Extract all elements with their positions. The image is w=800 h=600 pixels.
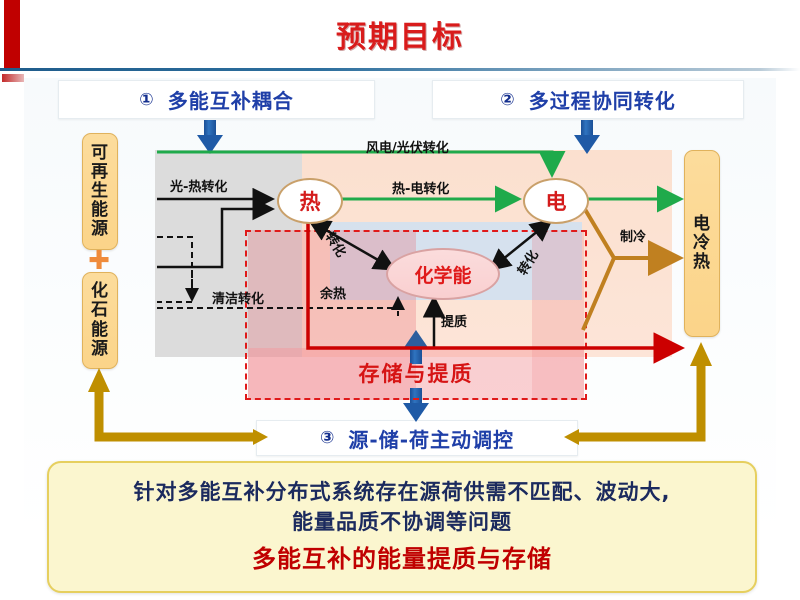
node-chemical-energy[interactable]: 化学能 bbox=[386, 248, 500, 300]
output-box-electricity-cooling-heat[interactable]: 电冷热 bbox=[684, 150, 720, 337]
step-banner-3[interactable]: ③ 源-储-荷主动调控 bbox=[256, 420, 578, 456]
flow-label-wind-pv: 风电/光伏转化 bbox=[366, 137, 449, 156]
step-2-number: ② bbox=[500, 90, 514, 110]
conclusion-line-2: 能量品质不协调等问题 bbox=[292, 510, 512, 535]
conclusion-highlight: 多能互补的能量提质与存储 bbox=[252, 539, 552, 574]
blue-down-arrow-step2 bbox=[574, 120, 600, 154]
step-1-number: ① bbox=[139, 90, 153, 110]
blue-down-arrow-step1 bbox=[197, 120, 223, 154]
arrow-head bbox=[403, 403, 429, 422]
node-chemical-label: 化学能 bbox=[414, 261, 471, 288]
page-title: 预期目标 bbox=[0, 12, 800, 56]
flow-label-heat-to-elec: 热-电转化 bbox=[392, 178, 449, 197]
output-label: 电冷热 bbox=[693, 215, 711, 272]
step-3-label: 源-储-荷主动调控 bbox=[348, 424, 514, 453]
arrow-head bbox=[197, 135, 223, 154]
slide-canvas: 预期目标 ① 多能互补耦合 ② 多过程协同转化 ③ 源-储-荷主动调控 可再生能… bbox=[0, 0, 800, 600]
step-banner-2[interactable]: ② 多过程协同转化 bbox=[432, 80, 744, 119]
flow-label-light-to-heat: 光-热转化 bbox=[170, 176, 227, 195]
header-divider-rule bbox=[0, 68, 800, 71]
flow-label-cooling: 制冷 bbox=[620, 226, 646, 245]
node-heat-label: 热 bbox=[300, 186, 321, 216]
arrow-head bbox=[574, 135, 600, 154]
node-heat[interactable]: 热 bbox=[277, 178, 343, 224]
source-fossil-label: 化石能源 bbox=[91, 282, 109, 358]
storage-band-label: 存储与提质 bbox=[248, 358, 584, 388]
step-1-label: 多能互补耦合 bbox=[168, 85, 294, 114]
step-banner-1[interactable]: ① 多能互补耦合 bbox=[58, 80, 375, 119]
source-renewable-label: 可再生能源 bbox=[91, 144, 109, 239]
node-electricity[interactable]: 电 bbox=[523, 178, 589, 224]
flow-label-clean-conversion: 清洁转化 bbox=[212, 288, 264, 307]
step-2-label: 多过程协同转化 bbox=[529, 85, 676, 114]
source-box-fossil[interactable]: 化石能源 bbox=[82, 272, 118, 369]
source-box-renewable[interactable]: 可再生能源 bbox=[82, 133, 118, 250]
conclusion-card: 针对多能互补分布式系统存在源荷供需不匹配、波动大, 能量品质不协调等问题 多能互… bbox=[47, 461, 757, 593]
conclusion-line-1: 针对多能互补分布式系统存在源荷供需不匹配、波动大, bbox=[134, 480, 671, 505]
step-3-number: ③ bbox=[320, 428, 334, 448]
flow-label-waste-heat: 余热 bbox=[320, 283, 346, 302]
plus-icon: ✚ bbox=[86, 250, 112, 272]
flow-label-upgrade: 提质 bbox=[441, 311, 467, 330]
left-red-accent-stub bbox=[2, 74, 24, 82]
node-electricity-label: 电 bbox=[546, 186, 567, 216]
